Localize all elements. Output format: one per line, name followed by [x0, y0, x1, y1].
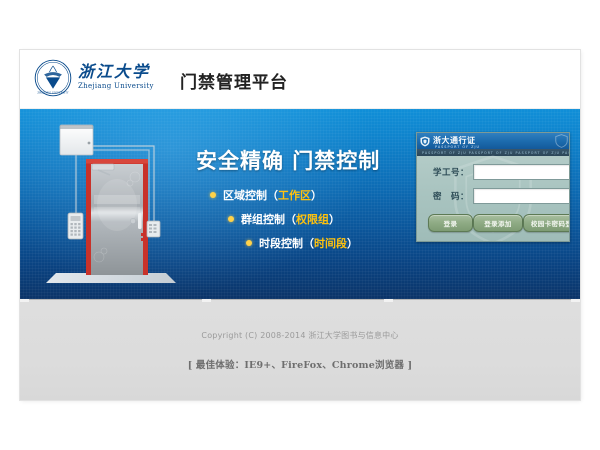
bullet-dot-icon — [210, 192, 216, 198]
bullet-suffix: ） — [311, 189, 322, 202]
page-container: ZHEJIANG UNIVERSITY 浙江大学 Zhejiang Univer… — [20, 50, 580, 400]
bullet-highlight: 权限组 — [296, 213, 329, 226]
campus-card-login-button[interactable]: 校园卡密码登录 — [523, 214, 570, 232]
password-field[interactable] — [473, 188, 570, 204]
bullet-text: 时段控制（时间段） — [259, 235, 358, 251]
bullet-text: 区域控制（工作区） — [223, 187, 322, 203]
bullet-dot-icon — [246, 240, 252, 246]
login-panel-titlebar: 浙大通行证 PASSPORT OF ZJU — [417, 133, 569, 149]
password-label: 密 码： — [425, 190, 473, 202]
login-panel-title: 浙大通行证 — [433, 137, 476, 145]
bullet-suffix: ） — [347, 237, 358, 250]
page-title: 门禁管理平台 — [180, 68, 288, 93]
logo-text-en: Zhejiang University — [78, 83, 154, 90]
bullet-prefix: 区域控制（ — [223, 189, 278, 202]
logo-text-cn: 浙江大学 — [78, 64, 154, 80]
footer-notches — [20, 299, 580, 302]
zju-seal-icon: ZHEJIANG UNIVERSITY — [34, 59, 72, 97]
shield-watermark-icon — [555, 134, 568, 148]
shield-icon — [420, 136, 430, 147]
list-item: 群组控制（权限组） — [228, 211, 410, 227]
login-strip-text: PASSPORT OF ZJU PASSPORT OF ZJU PASSPORT… — [417, 151, 569, 155]
access-control-door-illustration — [42, 117, 192, 297]
student-staff-id-label: 学工号： — [425, 166, 473, 178]
banner-headline: 安全精确 门禁控制 — [196, 145, 380, 175]
bullet-text: 群组控制（权限组） — [241, 211, 340, 227]
footer-copyright: Copyright (C) 2008-2014 浙江大学图书与信息中心 — [20, 300, 580, 341]
login-form: 学工号： 密 码： 登录 登录添加 校园卡密码登录 — [417, 156, 569, 232]
login-button[interactable]: 登录 — [428, 214, 473, 232]
login-panel: 浙大通行证 PASSPORT OF ZJU PASSPORT OF ZJU PA… — [416, 132, 570, 242]
footer-browser-note: [ 最佳体验：IE9+、FireFox、Chrome浏览器 ] — [20, 341, 580, 371]
field-row-password: 密 码： — [425, 188, 561, 204]
site-footer: Copyright (C) 2008-2014 浙江大学图书与信息中心 [ 最佳… — [20, 299, 580, 400]
site-header: ZHEJIANG UNIVERSITY 浙江大学 Zhejiang Univer… — [20, 50, 580, 109]
login-panel-strip: PASSPORT OF ZJU PASSPORT OF ZJU PASSPORT… — [417, 149, 569, 156]
login-panel-subtitle: PASSPORT OF ZJU — [435, 145, 480, 149]
bullet-highlight: 工作区 — [278, 189, 311, 202]
login-add-button[interactable]: 登录添加 — [473, 214, 523, 232]
bullet-prefix: 时段控制（ — [259, 237, 314, 250]
bullet-dot-icon — [228, 216, 234, 222]
svg-text:ZHEJIANG UNIVERSITY: ZHEJIANG UNIVERSITY — [37, 91, 68, 94]
bullet-suffix: ） — [329, 213, 340, 226]
bullet-highlight: 时间段 — [314, 237, 347, 250]
list-item: 时段控制（时间段） — [246, 235, 410, 251]
bullet-prefix: 群组控制（ — [241, 213, 296, 226]
list-item: 区域控制（工作区） — [210, 187, 410, 203]
field-row-student-id: 学工号： — [425, 164, 561, 180]
university-logo[interactable]: ZHEJIANG UNIVERSITY 浙江大学 Zhejiang Univer… — [34, 59, 154, 97]
hero-banner: 安全精确 门禁控制 区域控制（工作区） 群组控制（权限组） 时段控制（时间段） — [20, 109, 580, 299]
banner-feature-list: 区域控制（工作区） 群组控制（权限组） 时段控制（时间段） — [210, 187, 410, 259]
login-button-row: 登录 登录添加 校园卡密码登录 — [425, 212, 561, 232]
student-staff-id-field[interactable] — [473, 164, 570, 180]
